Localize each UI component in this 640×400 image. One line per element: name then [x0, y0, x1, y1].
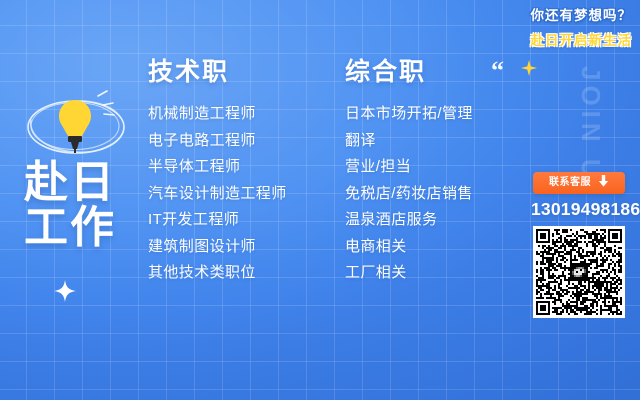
list-item[interactable]: 营业/担当: [345, 159, 473, 174]
sparkle-star-icon-white: [54, 280, 76, 302]
list-item[interactable]: 半导体工程师: [148, 159, 287, 174]
list-item[interactable]: 机械制造工程师: [148, 106, 287, 121]
job-list-technical: 机械制造工程师 电子电路工程师 半导体工程师 汽车设计制造工程师 IT开发工程师…: [148, 106, 287, 280]
list-item[interactable]: 翻译: [345, 133, 473, 148]
page-title: 赴日 工作: [24, 160, 116, 251]
joinus-watermark: JOIN U: [578, 66, 604, 183]
list-item[interactable]: 日本市场开拓/管理: [345, 106, 473, 121]
quote-mark-icon: “: [491, 58, 504, 84]
contact-support-label: 联系客服: [549, 178, 591, 188]
list-item[interactable]: 温泉酒店服务: [345, 212, 473, 227]
list-item[interactable]: 免税店/药妆店销售: [345, 186, 473, 201]
page-title-line-1: 赴日: [24, 160, 116, 205]
poster-canvas: JOIN U 你还有梦想吗？ 赴日开启新生活 “: [0, 0, 640, 400]
page-title-line-2: 工作: [24, 205, 116, 250]
list-item[interactable]: 电商相关: [345, 239, 473, 254]
column-title-general: 综合职: [345, 60, 473, 85]
job-list-general: 日本市场开拓/管理 翻译 营业/担当 免税店/药妆店销售 温泉酒店服务 电商相关…: [345, 106, 473, 280]
tagline-line-1: 你还有梦想吗？: [531, 4, 633, 24]
list-item[interactable]: 其他技术类职位: [148, 265, 287, 280]
arrow-down-icon: [598, 174, 609, 192]
qr-code[interactable]: [533, 226, 625, 318]
phone-number[interactable]: 13019498186: [531, 201, 629, 219]
column-title-technical: 技术职: [148, 60, 287, 85]
list-item[interactable]: 电子电路工程师: [148, 133, 287, 148]
contact-support-button[interactable]: 联系客服: [533, 172, 625, 194]
list-item[interactable]: 工厂相关: [345, 265, 473, 280]
lightbulb-icon: [59, 91, 114, 153]
list-item[interactable]: IT开发工程师: [148, 212, 287, 227]
sparkle-star-icon-yellow: [521, 60, 537, 76]
list-item[interactable]: 建筑制图设计师: [148, 239, 287, 254]
lightbulb-badge: [18, 80, 136, 170]
list-item[interactable]: 汽车设计制造工程师: [148, 186, 287, 201]
job-column-general: 综合职 日本市场开拓/管理 翻译 营业/担当 免税店/药妆店销售 温泉酒店服务 …: [345, 60, 473, 292]
tagline: 你还有梦想吗？ 赴日开启新生活: [531, 4, 633, 49]
tagline-line-2: 赴日开启新生活: [531, 29, 633, 49]
job-column-technical: 技术职 机械制造工程师 电子电路工程师 半导体工程师 汽车设计制造工程师 IT开…: [148, 60, 287, 292]
